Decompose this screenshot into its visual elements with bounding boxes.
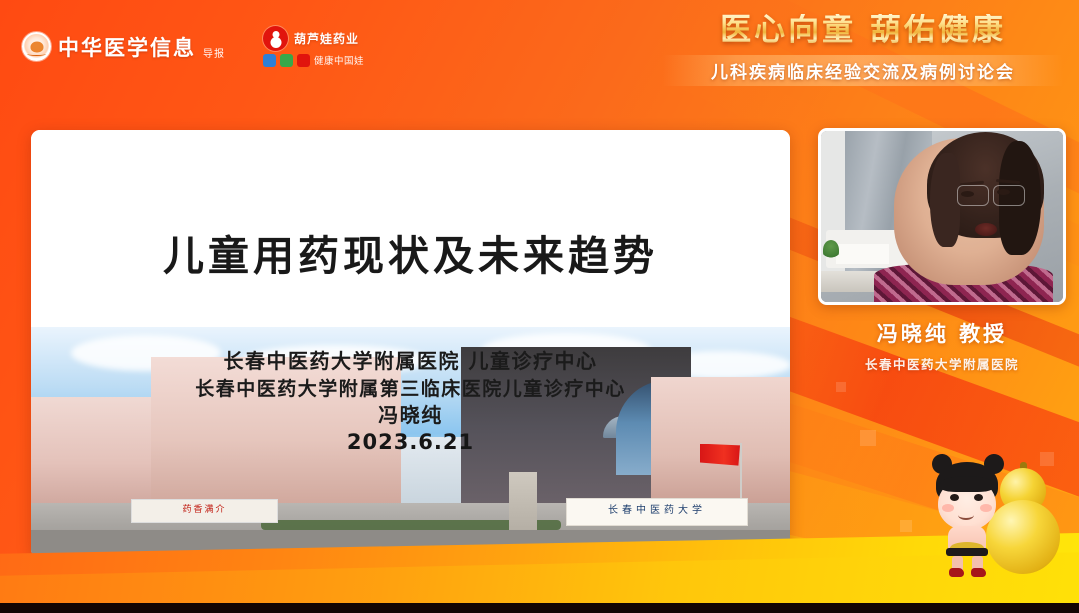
slide-caption-block: 长春中医药大学附属医院 儿童诊疗中心 长春中医药大学附属第三临床医院儿童诊疗中心…	[31, 348, 790, 454]
logo-tile-blue-icon	[263, 54, 276, 67]
calabash-boy-mascot-icon	[916, 440, 1066, 580]
campus-sign-right-text: 长春中医药大学	[567, 499, 747, 523]
logo-huluwa-tagline: 健康中国娃	[314, 53, 364, 67]
logo-huluwa: 葫芦娃药业 健康中国娃	[263, 26, 364, 67]
presentation-slide[interactable]: 儿童用药现状及未来趋势 药香满介 长春中医药大学	[31, 130, 790, 558]
logo-cma: 中华医学信息 导报	[22, 32, 225, 62]
slide-title: 儿童用药现状及未来趋势	[31, 222, 790, 282]
speaker-video-tile[interactable]	[818, 128, 1066, 305]
cma-emblem-icon	[22, 32, 51, 61]
logo-bar: 中华医学信息 导报 葫芦娃药业 健康中国娃	[22, 26, 364, 67]
event-banner-title: 医心向童 葫佑健康	[663, 14, 1063, 47]
broadcast-stage: 中华医学信息 导报 葫芦娃药业 健康中国娃 医心向童 葫佑健康 儿科疾病临床经验…	[0, 0, 1079, 613]
speaker-credit: 冯晓纯 教授 长春中医药大学附属医院	[818, 318, 1066, 373]
speaker-organization: 长春中医药大学附属医院	[818, 354, 1066, 373]
campus-sign-left-text: 药香满介	[132, 500, 277, 520]
bottom-letterbox-edge	[0, 603, 1079, 613]
speaker-video-icon	[821, 131, 1063, 302]
logo-huluwa-brand: 葫芦娃药业	[294, 30, 359, 47]
event-banner-subtitle-band: 儿科疾病临床经验交流及病例讨论会	[663, 55, 1063, 86]
boy-figure-icon	[926, 456, 1010, 576]
campus-sign-right: 长春中医药大学	[566, 498, 748, 526]
gourd-badge-icon	[263, 26, 288, 51]
logo-tile-green-icon	[280, 54, 293, 67]
event-banner: 医心向童 葫佑健康 儿科疾病临床经验交流及病例讨论会	[663, 14, 1063, 86]
slide-caption-line-2: 长春中医药大学附属第三临床医院儿童诊疗中心	[31, 376, 790, 402]
campus-sign-left: 药香满介	[131, 499, 278, 523]
event-banner-subtitle: 儿科疾病临床经验交流及病例讨论会	[663, 58, 1063, 83]
speaker-name: 冯晓纯 教授	[818, 318, 1066, 348]
logo-tile-red-icon	[297, 54, 310, 67]
slide-caption-line-1: 长春中医药大学附属医院 儿童诊疗中心	[31, 348, 790, 376]
logo-cma-suffix: 导报	[203, 45, 225, 60]
logo-cma-wordmark: 中华医学信息	[58, 32, 196, 62]
slide-caption-line-3: 冯晓纯	[31, 402, 790, 430]
slide-date: 2023.6.21	[31, 430, 790, 454]
